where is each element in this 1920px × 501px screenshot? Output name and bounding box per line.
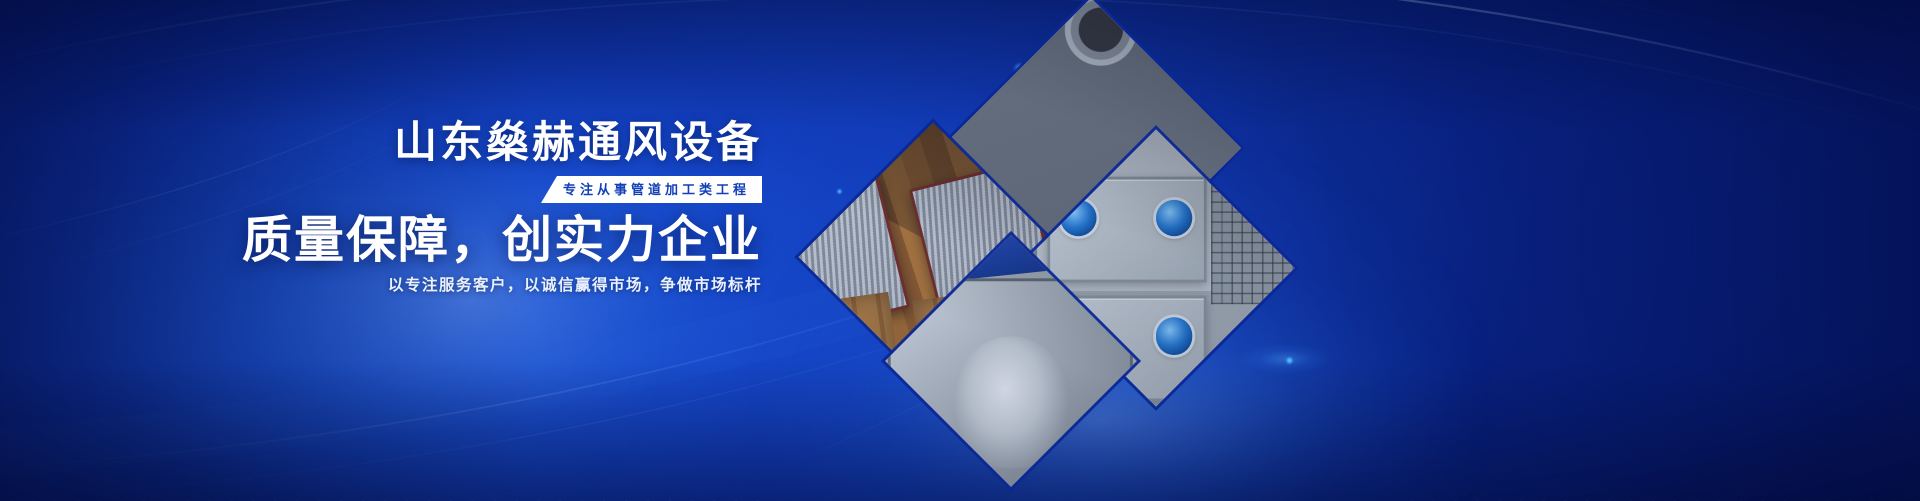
hero-headline: 质量保障，创实力企业	[242, 215, 762, 265]
hero-banner: 山东燊赫通风设备 专注从事管道加工类工程 质量保障，创实力企业 以专注服务客户，…	[0, 0, 1920, 501]
hero-text-block: 山东燊赫通风设备 专注从事管道加工类工程 质量保障，创实力企业 以专注服务客户，…	[0, 0, 790, 501]
company-title: 山东燊赫通风设备	[394, 122, 762, 165]
diamond-photo-collage	[800, 22, 1260, 482]
hero-tagline: 以专注服务客户，以诚信赢得市场，争做市场标杆	[388, 278, 762, 294]
specialty-badge: 专注从事管道加工类工程	[541, 176, 762, 203]
